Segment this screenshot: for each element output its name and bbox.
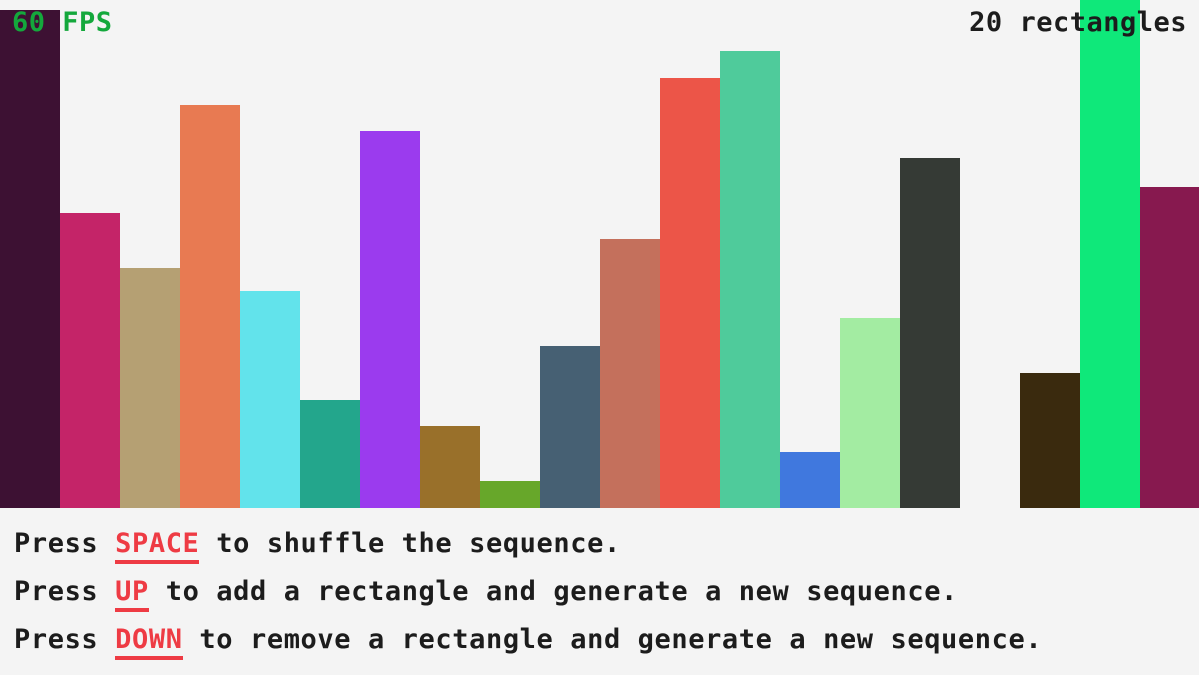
bar-rectangle bbox=[300, 400, 360, 508]
bar-rectangle bbox=[600, 239, 660, 508]
instruction-line-remove: Press DOWN to remove a rectangle and gen… bbox=[14, 626, 1042, 653]
rectangle-count-label: 20 rectangles bbox=[969, 9, 1187, 36]
bar-rectangle bbox=[1080, 0, 1140, 508]
bar-rectangle bbox=[120, 268, 180, 508]
instruction-prefix: Press bbox=[14, 528, 115, 559]
bar-rectangle bbox=[0, 10, 60, 508]
bar-rectangle bbox=[720, 51, 780, 508]
app-root: 60 FPS 20 rectangles Press SPACE to shuf… bbox=[0, 0, 1199, 675]
key-down[interactable]: DOWN bbox=[115, 624, 182, 660]
bar-rectangle bbox=[540, 346, 600, 508]
instruction-line-shuffle: Press SPACE to shuffle the sequence. bbox=[14, 530, 621, 557]
bar-rectangle bbox=[60, 213, 120, 508]
instructions-panel: Press SPACE to shuffle the sequence. Pre… bbox=[0, 516, 1199, 675]
key-space[interactable]: SPACE bbox=[115, 528, 199, 564]
fps-counter: 60 FPS bbox=[12, 9, 113, 36]
instruction-prefix: Press bbox=[14, 624, 115, 655]
instruction-suffix: to remove a rectangle and generate a new… bbox=[183, 624, 1043, 655]
bar-rectangle bbox=[1020, 373, 1080, 508]
instruction-suffix: to add a rectangle and generate a new se… bbox=[149, 576, 958, 607]
instruction-line-add: Press UP to add a rectangle and generate… bbox=[14, 578, 958, 605]
bar-rectangle bbox=[1140, 187, 1199, 508]
key-up[interactable]: UP bbox=[115, 576, 149, 612]
instruction-prefix: Press bbox=[14, 576, 115, 607]
bar-rectangle bbox=[360, 131, 420, 508]
bar-rectangle bbox=[180, 105, 240, 508]
bar-rectangle bbox=[840, 318, 900, 508]
instruction-suffix: to shuffle the sequence. bbox=[199, 528, 620, 559]
bar-rectangle bbox=[780, 452, 840, 508]
bar-rectangle bbox=[900, 158, 960, 508]
bar-rectangle bbox=[480, 481, 540, 508]
bar-rectangle bbox=[420, 426, 480, 508]
bar-rectangle bbox=[660, 78, 720, 508]
rectangle-canvas[interactable] bbox=[0, 0, 1199, 512]
bar-rectangle bbox=[240, 291, 300, 508]
